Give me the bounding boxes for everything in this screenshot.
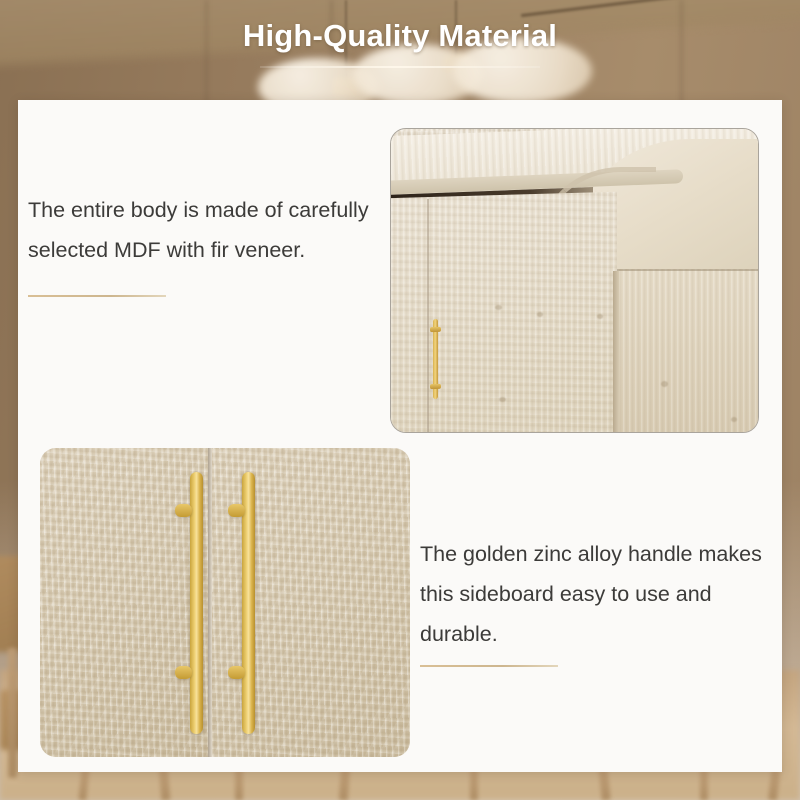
wood-knot: [661, 381, 668, 387]
background-chair-leg: [700, 768, 708, 800]
wood-knot: [731, 417, 737, 422]
product-photo-handles: [40, 448, 410, 757]
gold-handle-stud: [175, 504, 192, 517]
sideboard-side-top-edge: [617, 269, 759, 271]
gold-handle-stud: [228, 666, 245, 679]
feature-accent-rule-handle: [420, 665, 558, 667]
feature-text-material: The entire body is made of carefully sel…: [28, 190, 388, 270]
sideboard-side-seam: [613, 271, 619, 433]
gold-handle-stud: [430, 327, 441, 332]
title-underline: [260, 66, 540, 68]
wood-knot: [537, 312, 543, 317]
cabinet-door-seam: [208, 448, 212, 757]
gold-handle-stud: [430, 384, 441, 389]
sideboard-door-seam: [427, 199, 429, 433]
background-chair-leg: [235, 768, 243, 800]
wood-knot: [597, 314, 603, 319]
gold-handle-stud: [175, 666, 192, 679]
wood-knot: [495, 305, 502, 310]
feature-accent-rule-material: [28, 295, 166, 297]
page-title: High-Quality Material: [0, 18, 800, 54]
cabinet-door-left: [40, 448, 208, 757]
promo-banner: High-Quality Material: [0, 0, 800, 800]
sideboard-side-panel: [617, 269, 759, 433]
background-chair-leg: [8, 648, 17, 778]
gold-handle-stud: [228, 504, 245, 517]
product-photo-material: [390, 128, 759, 433]
background-chair-leg: [470, 768, 478, 800]
wood-knot: [499, 397, 506, 402]
feature-text-handle: The golden zinc alloy handle makes this …: [420, 534, 780, 654]
